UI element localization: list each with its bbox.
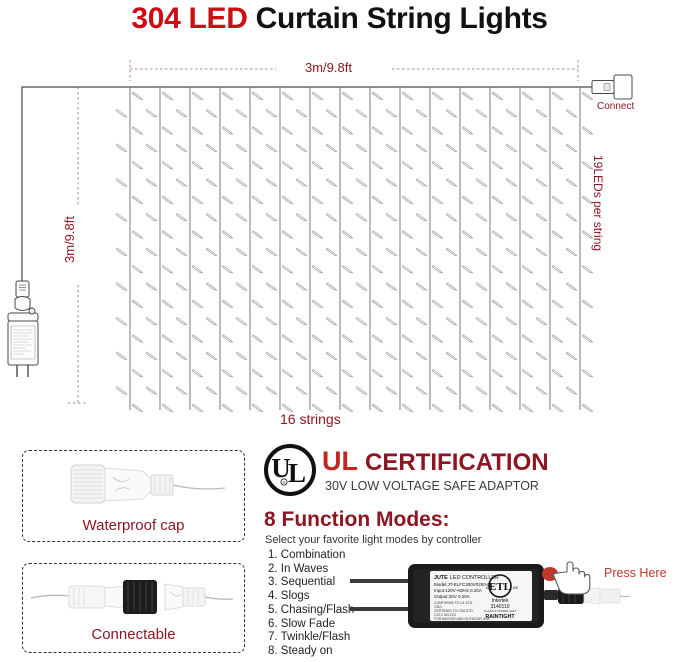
led-bulb — [162, 404, 172, 412]
led-bulb — [416, 283, 426, 291]
led-bulb — [176, 248, 186, 256]
press-here-label: Press Here — [604, 566, 667, 580]
led-bulb — [402, 265, 412, 273]
led-bulb — [492, 300, 502, 308]
svg-text:RAINTIGHT: RAINTIGHT — [485, 614, 515, 620]
led-bulb — [492, 196, 502, 204]
led-bulb — [146, 283, 156, 291]
curtain-diagram-svg — [0, 55, 679, 440]
led-bulb — [446, 352, 456, 360]
svg-text:Output:30V 0.20A: Output:30V 0.20A — [434, 594, 470, 599]
led-bulb — [492, 404, 502, 412]
led-bulb — [206, 144, 216, 152]
led-bulb — [146, 179, 156, 187]
led-bulb — [252, 369, 262, 377]
led-bulb — [146, 109, 156, 117]
led-bulb — [416, 213, 426, 221]
led-bulb — [206, 352, 216, 360]
led-bulb — [326, 283, 336, 291]
led-bulb — [356, 283, 366, 291]
led-bulb — [566, 387, 576, 395]
led-bulb — [192, 92, 202, 100]
leds-per-string-label: 19LEDs per string — [591, 155, 605, 251]
led-bulb — [326, 387, 336, 395]
led-bulb — [252, 127, 262, 135]
led-bulb — [282, 369, 292, 377]
led-bulb — [582, 127, 592, 135]
led-bulb — [162, 300, 172, 308]
press-hand-icon — [553, 562, 590, 594]
led-bulb — [522, 300, 532, 308]
led-bulb — [342, 92, 352, 100]
led-bulb — [432, 335, 442, 343]
led-bulb — [296, 387, 306, 395]
led-bulb — [252, 404, 262, 412]
led-bulb — [296, 179, 306, 187]
led-bulb — [282, 161, 292, 169]
led-bulb — [266, 352, 276, 360]
led-bulb — [146, 248, 156, 256]
svg-text:Input:120V~60Hz,0.20A: Input:120V~60Hz,0.20A — [434, 588, 482, 593]
led-bulb — [176, 144, 186, 152]
ul-word: CERTIFICATION — [365, 449, 549, 476]
led-bulb — [536, 317, 546, 325]
svg-text:CLASS 2 POWER UNIT: CLASS 2 POWER UNIT — [484, 609, 517, 613]
led-bulb — [132, 127, 142, 135]
led-bulb — [162, 196, 172, 204]
led-bulb — [582, 404, 592, 412]
led-bulb — [312, 335, 322, 343]
led-bulb — [476, 109, 486, 117]
led-bulb — [462, 369, 472, 377]
led-bulb — [476, 213, 486, 221]
led-bulb — [132, 404, 142, 412]
led-bulb — [116, 248, 126, 256]
led-bulb — [146, 352, 156, 360]
led-bulb — [582, 92, 592, 100]
led-bulb — [326, 317, 336, 325]
led-bulb — [252, 231, 262, 239]
led-bulb — [162, 369, 172, 377]
led-bulb — [552, 369, 562, 377]
led-bulb — [162, 92, 172, 100]
led-bulb — [492, 369, 502, 377]
led-bulb — [462, 161, 472, 169]
led-bulb — [386, 248, 396, 256]
led-bulb — [506, 387, 516, 395]
led-bulb — [522, 265, 532, 273]
led-bulb — [432, 231, 442, 239]
led-bulb — [372, 161, 382, 169]
function-mode-item: 1. Combination — [268, 549, 354, 563]
led-bulb — [536, 179, 546, 187]
function-mode-item: 7. Twinkle/Flash — [268, 631, 354, 645]
led-bulb — [552, 231, 562, 239]
led-bulb — [116, 317, 126, 325]
led-bulb — [192, 369, 202, 377]
led-bulb — [252, 335, 262, 343]
led-bulb — [386, 317, 396, 325]
led-bulb — [222, 196, 232, 204]
led-bulb — [462, 196, 472, 204]
svg-text:R: R — [283, 480, 286, 485]
led-bulb — [326, 213, 336, 221]
led-bulb — [566, 213, 576, 221]
led-bulb — [476, 317, 486, 325]
led-bulb — [326, 109, 336, 117]
led-bulb — [582, 300, 592, 308]
led-bulb — [116, 283, 126, 291]
svg-text:JUTE: JUTE — [434, 575, 448, 581]
width-dimension-label: 3m/9.8ft — [300, 60, 357, 75]
led-bulb — [462, 231, 472, 239]
led-bulb — [356, 109, 366, 117]
led-bulb — [312, 196, 322, 204]
led-bulb — [342, 335, 352, 343]
led-bulb — [506, 352, 516, 360]
led-bulb — [192, 265, 202, 273]
function-modes-heading: 8 Function Modes: — [264, 508, 450, 532]
ul-certification-block: U L R UL CERTIFICATION 30V LOW VOLTAGE S… — [264, 444, 316, 501]
led-bulb — [312, 161, 322, 169]
led-bulb — [132, 300, 142, 308]
led-bulb — [506, 109, 516, 117]
led-bulb — [492, 335, 502, 343]
led-bulb — [416, 179, 426, 187]
led-bulb — [116, 109, 126, 117]
led-bulb — [552, 335, 562, 343]
waterproof-cap-image — [23, 453, 240, 515]
led-bulb — [566, 179, 576, 187]
led-bulb — [132, 231, 142, 239]
led-bulb — [252, 265, 262, 273]
led-bulb — [506, 213, 516, 221]
led-bulb — [416, 109, 426, 117]
led-bulb — [356, 387, 366, 395]
led-bulb — [312, 92, 322, 100]
led-bulb — [162, 265, 172, 273]
led-bulb — [206, 317, 216, 325]
led-bulb — [192, 404, 202, 412]
led-bulb — [552, 161, 562, 169]
led-bulb — [552, 300, 562, 308]
led-bulb — [522, 161, 532, 169]
led-bulb — [356, 352, 366, 360]
led-bulb — [326, 248, 336, 256]
led-bulb — [552, 92, 562, 100]
function-mode-item: 4. Slogs — [268, 590, 354, 604]
callout-waterproof-cap-label: Waterproof cap — [23, 517, 244, 534]
led-bulb — [386, 144, 396, 152]
led-bulb — [116, 213, 126, 221]
led-bulb — [222, 92, 232, 100]
led-bulb — [446, 109, 456, 117]
led-bulb — [116, 352, 126, 360]
led-bulb — [192, 300, 202, 308]
led-bulb — [432, 161, 442, 169]
led-bulb — [296, 109, 306, 117]
led-bulb — [162, 335, 172, 343]
led-bulb — [132, 335, 142, 343]
led-bulb — [386, 352, 396, 360]
led-bulb — [282, 335, 292, 343]
led-bulb — [282, 92, 292, 100]
led-bulb — [312, 127, 322, 135]
led-bulb — [342, 404, 352, 412]
led-controller-image: JUTE LED CONTROLLER Model:JT-ELFC300V020… — [350, 552, 630, 662]
led-bulb — [446, 179, 456, 187]
led-bulb — [522, 92, 532, 100]
led-bulb — [566, 248, 576, 256]
led-bulb — [446, 213, 456, 221]
led-bulb — [582, 369, 592, 377]
led-bulb — [522, 404, 532, 412]
led-bulb — [416, 352, 426, 360]
led-bulb — [282, 231, 292, 239]
led-bulb — [462, 265, 472, 273]
led-bulb — [132, 92, 142, 100]
led-bulb — [132, 369, 142, 377]
led-bulb — [116, 179, 126, 187]
ul-logo-icon: U L R — [264, 444, 316, 496]
led-bulb — [372, 404, 382, 412]
led-bulb — [222, 369, 232, 377]
led-bulb — [222, 335, 232, 343]
led-bulb — [566, 144, 576, 152]
led-bulb — [342, 161, 352, 169]
led-bulb — [356, 248, 366, 256]
led-bulb — [536, 283, 546, 291]
led-bulb — [282, 127, 292, 135]
led-bulb — [326, 352, 336, 360]
led-bulb — [506, 283, 516, 291]
led-bulb — [536, 213, 546, 221]
led-bulb — [492, 161, 502, 169]
led-bulb — [536, 352, 546, 360]
led-bulb — [476, 283, 486, 291]
led-bulb — [506, 179, 516, 187]
led-bulb — [236, 179, 246, 187]
led-bulb — [116, 387, 126, 395]
led-bulb — [372, 300, 382, 308]
svg-text:L: L — [288, 458, 306, 488]
led-bulb — [176, 387, 186, 395]
led-bulb — [402, 161, 412, 169]
led-bulb — [432, 196, 442, 204]
led-bulb — [446, 248, 456, 256]
ul-mark: UL — [322, 446, 358, 476]
ul-certification-title: UL CERTIFICATION — [322, 446, 549, 477]
callout-waterproof-cap: Waterproof cap — [22, 450, 245, 542]
led-bulb — [432, 127, 442, 135]
led-bulb — [116, 144, 126, 152]
led-bulb — [296, 144, 306, 152]
led-bulb — [492, 127, 502, 135]
svg-text:FOR INDOOR AND OUTDOOR USE: FOR INDOOR AND OUTDOOR USE — [434, 617, 490, 621]
led-bulb — [372, 335, 382, 343]
led-bulb — [266, 109, 276, 117]
led-bulb — [206, 213, 216, 221]
led-bulb — [476, 387, 486, 395]
function-mode-item: 8. Steady on — [268, 645, 354, 659]
product-infographic: 304 LED Curtain String Lights — [0, 0, 679, 661]
led-bulb — [416, 144, 426, 152]
led-bulb — [462, 335, 472, 343]
led-bulb — [206, 248, 216, 256]
led-bulb — [522, 127, 532, 135]
led-bulb — [342, 196, 352, 204]
led-bulb — [252, 92, 262, 100]
led-bulb — [552, 404, 562, 412]
led-bulb — [432, 92, 442, 100]
led-bulb — [176, 283, 186, 291]
led-bulb — [206, 283, 216, 291]
led-bulb — [342, 127, 352, 135]
led-bulb — [582, 335, 592, 343]
led-bulb — [236, 144, 246, 152]
led-bulb — [222, 300, 232, 308]
led-bulb — [222, 161, 232, 169]
led-bulb — [146, 213, 156, 221]
connector — [592, 75, 632, 99]
callout-connectable: Connectable — [22, 563, 245, 653]
led-bulb — [236, 109, 246, 117]
led-bulb — [266, 179, 276, 187]
led-bulb — [282, 265, 292, 273]
led-bulb — [342, 300, 352, 308]
svg-text:ETL: ETL — [489, 581, 511, 593]
led-bulb — [582, 265, 592, 273]
led-bulb — [506, 248, 516, 256]
page-title: 304 LED Curtain String Lights — [0, 2, 679, 36]
led-bulb — [492, 265, 502, 273]
led-bulb — [402, 369, 412, 377]
led-bulb — [252, 300, 262, 308]
led-bulb — [266, 387, 276, 395]
led-bulb — [236, 248, 246, 256]
led-bulb — [162, 127, 172, 135]
led-bulb — [432, 265, 442, 273]
led-bulb — [236, 317, 246, 325]
title-rest: Curtain String Lights — [256, 2, 548, 35]
led-bulb — [372, 92, 382, 100]
led-bulb — [326, 179, 336, 187]
led-bulb — [446, 144, 456, 152]
led-bulb — [296, 213, 306, 221]
led-bulb — [266, 317, 276, 325]
led-bulb — [536, 109, 546, 117]
led-bulb — [506, 317, 516, 325]
led-bulb — [192, 127, 202, 135]
led-bulb — [522, 369, 532, 377]
height-dimension-label: 3m/9.8ft — [60, 216, 79, 263]
led-bulb — [476, 352, 486, 360]
led-bulb — [266, 248, 276, 256]
led-bulb — [356, 213, 366, 221]
led-bulb — [296, 248, 306, 256]
led-bulb — [402, 335, 412, 343]
led-bulb — [296, 317, 306, 325]
led-bulb — [146, 144, 156, 152]
led-bulb — [206, 109, 216, 117]
led-bulb — [386, 179, 396, 187]
led-bulb — [312, 231, 322, 239]
led-bulb — [222, 404, 232, 412]
led-bulb — [506, 144, 516, 152]
led-bulb — [566, 352, 576, 360]
led-bulb — [282, 300, 292, 308]
callout-connectable-label: Connectable — [23, 626, 244, 643]
led-bulb — [566, 317, 576, 325]
led-bulb — [312, 300, 322, 308]
led-bulb — [266, 283, 276, 291]
led-bulb — [476, 144, 486, 152]
led-bulb — [192, 161, 202, 169]
led-bulb — [162, 161, 172, 169]
led-bulb — [146, 317, 156, 325]
led-bulb — [132, 265, 142, 273]
led-bulb — [552, 265, 562, 273]
connectable-image — [23, 566, 240, 626]
led-bulb — [296, 283, 306, 291]
led-bulb — [266, 144, 276, 152]
led-bulb — [296, 352, 306, 360]
led-bulb — [342, 265, 352, 273]
strings-count-label: 16 strings — [280, 411, 341, 427]
led-bulb — [402, 231, 412, 239]
led-bulb — [536, 144, 546, 152]
led-bulb — [312, 265, 322, 273]
led-bulb — [536, 387, 546, 395]
curtain-diagram: 3m/9.8ft 3m/9.8ft 19LEDs per string Conn… — [0, 55, 679, 440]
function-mode-item: 5. Chasing/Flash — [268, 604, 354, 618]
led-bulb — [446, 317, 456, 325]
led-bulb — [402, 196, 412, 204]
led-bulb — [372, 127, 382, 135]
function-modes-subheading: Select your favorite light modes by cont… — [265, 534, 481, 546]
led-bulb — [522, 196, 532, 204]
led-bulb — [176, 213, 186, 221]
led-bulb — [176, 317, 186, 325]
led-bulb — [402, 92, 412, 100]
led-bulb — [402, 404, 412, 412]
led-bulb — [312, 369, 322, 377]
led-bulb — [236, 213, 246, 221]
led-bulb — [536, 248, 546, 256]
led-bulb — [192, 335, 202, 343]
led-bulb — [566, 283, 576, 291]
led-bulb — [252, 161, 262, 169]
led-bulb — [206, 387, 216, 395]
function-mode-item: 3. Sequential — [268, 576, 354, 590]
led-bulb — [462, 92, 472, 100]
led-bulb — [372, 369, 382, 377]
led-bulb — [222, 231, 232, 239]
led-bulb — [356, 144, 366, 152]
function-mode-item: 2. In Waves — [268, 563, 354, 577]
led-bulb — [386, 283, 396, 291]
led-bulb — [446, 387, 456, 395]
led-bulb — [552, 127, 562, 135]
led-bulb — [462, 300, 472, 308]
led-bulb — [372, 231, 382, 239]
led-bulb — [342, 369, 352, 377]
led-bulb — [386, 109, 396, 117]
led-bulb — [236, 387, 246, 395]
led-bulb — [416, 248, 426, 256]
led-bulb — [432, 404, 442, 412]
led-bulb — [236, 283, 246, 291]
